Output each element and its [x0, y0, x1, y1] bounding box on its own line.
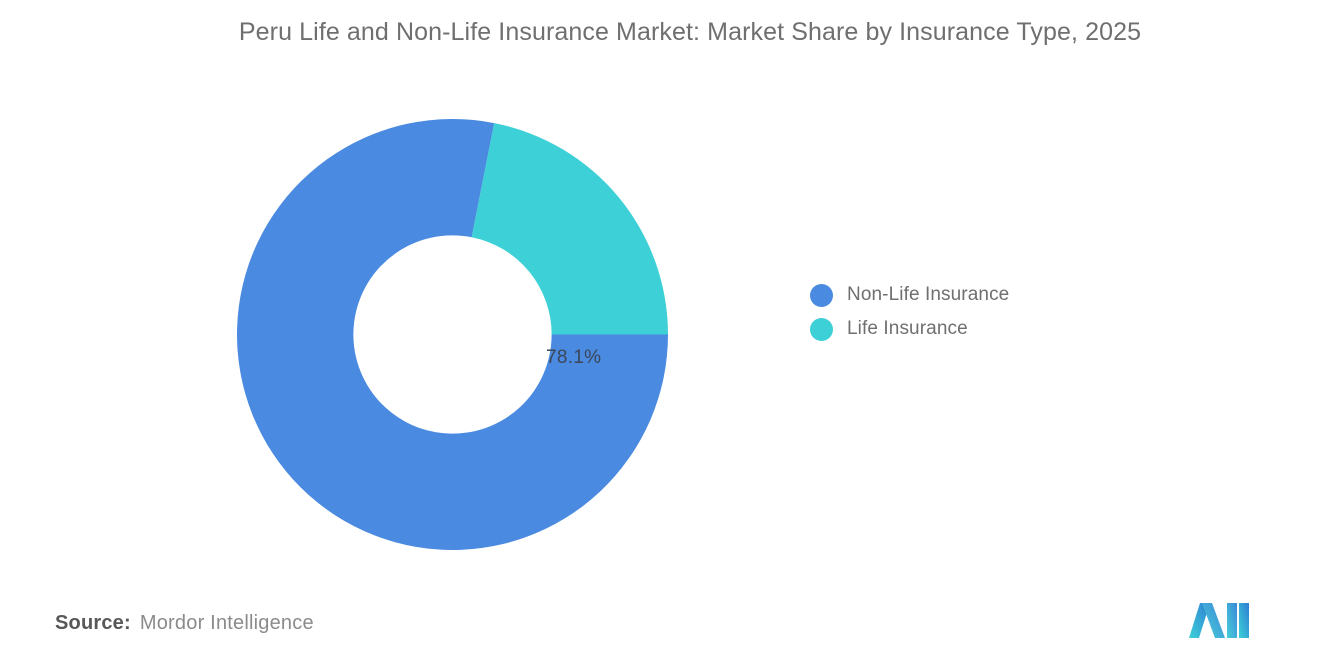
chart-title: Peru Life and Non-Life Insurance Market:… [110, 12, 1270, 52]
donut-slices [237, 119, 668, 550]
legend-item-non-life-insurance[interactable]: Non-Life Insurance [810, 283, 1009, 307]
mi-logo-icon [1186, 598, 1252, 640]
chart-canvas: Peru Life and Non-Life Insurance Market:… [0, 0, 1320, 665]
legend-label-life-insurance: Life Insurance [847, 318, 968, 340]
donut-slice-life-insurance[interactable] [472, 123, 668, 334]
mordor-intelligence-logo [1186, 598, 1252, 640]
source-line: Source: Mordor Intelligence [55, 612, 314, 635]
chart-legend: Non-Life Insurance Life Insurance [810, 283, 1009, 341]
donut-chart: 78.1% [237, 119, 668, 550]
legend-swatch-icon-non-life-insurance [810, 284, 833, 307]
legend-swatch-icon-life-insurance [810, 318, 833, 341]
source-label: Source: [55, 612, 131, 635]
donut-slice-label-non-life: 78.1% [546, 347, 601, 369]
legend-item-life-insurance[interactable]: Life Insurance [810, 317, 1009, 341]
source-value: Mordor Intelligence [140, 612, 314, 635]
donut-chart-svg [237, 119, 668, 550]
legend-label-non-life-insurance: Non-Life Insurance [847, 284, 1009, 306]
